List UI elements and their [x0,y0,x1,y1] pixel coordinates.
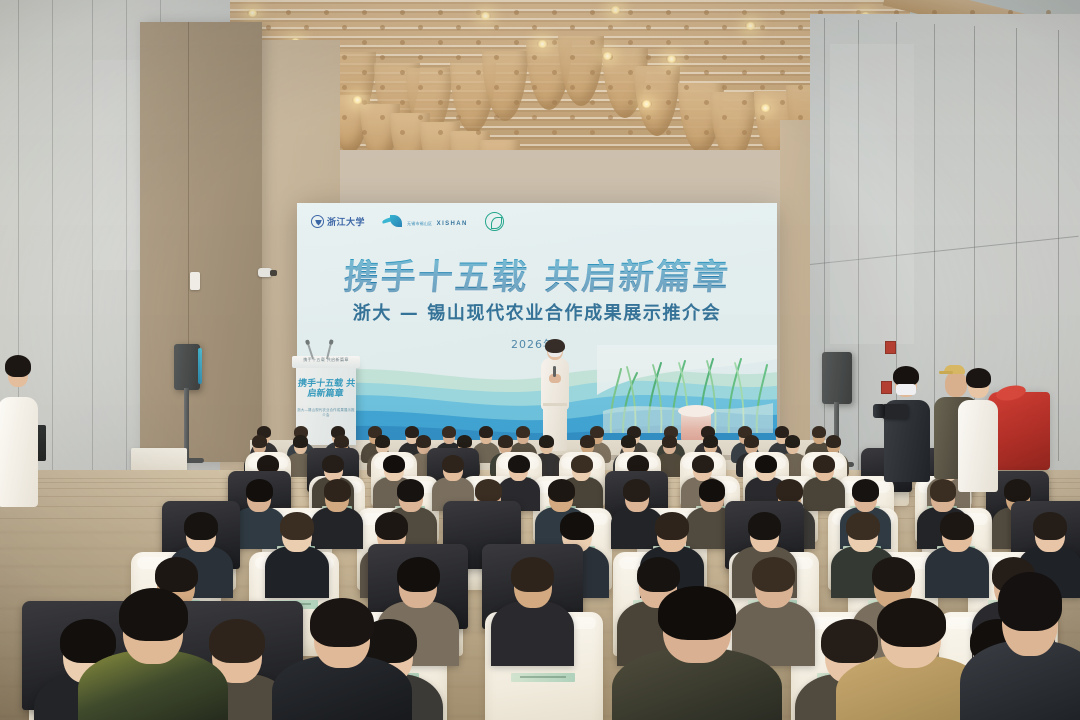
ceiling-wave-drop [480,140,520,150]
person-hair [442,455,464,473]
ceiling-fastener-dot [684,115,689,120]
ceiling-fastener-dot [742,10,747,15]
person-hair [479,426,493,438]
ceiling-fastener-dot [418,85,423,90]
ceiling-fastener-dot [590,100,595,105]
podium-title: 携手十五载 共启新篇章 [295,379,357,400]
ceiling-fastener-dot [532,85,537,90]
ceiling-fastener-dot [476,70,481,75]
ceiling-fastener-dot [514,70,519,75]
ceiling-fastener-dot [722,85,727,90]
woman-in-white-coat [958,368,998,490]
ceiling-fastener-dot [798,25,803,30]
person-hair [322,455,344,473]
person-hair [560,512,593,540]
person-hair [580,435,596,448]
person-hair [1004,479,1031,501]
ceiling-fastener-dot [704,100,709,105]
zju-logo-text: 浙江大学 [327,215,365,228]
ceiling-fastener-dot [628,70,633,75]
security-camera-icon [258,268,272,277]
ceiling-fastener-dot [590,10,595,15]
ceiling-fastener-dot [494,115,499,120]
wall-right-reflection [830,44,914,344]
person-hair [662,435,678,448]
ceiling-fastener-dot [286,10,291,15]
ceiling-fastener-dot [494,55,499,60]
ceiling-fastener-dot [456,55,461,60]
ceiling-fastener-dot [570,85,575,90]
wall-device-left [190,272,200,290]
person-hair [776,479,803,501]
wall-seam [52,0,53,470]
ceiling-downlight [666,55,677,63]
person-hair [930,479,957,501]
person-hair [293,435,309,448]
ceiling-fastener-dot [780,100,785,105]
person-hair [508,455,530,473]
ceiling-fastener-dot [362,10,367,15]
ceiling-downlight [760,104,771,112]
ceiling-fastener-dot [704,130,709,135]
ceiling-fastener-dot [704,40,709,45]
ceiling-fastener-dot [608,115,613,120]
ceiling-fastener-dot [666,40,671,45]
ceiling-fastener-dot [760,25,765,30]
ceiling-fastener-dot [456,115,461,120]
ceiling-fastener-dot [400,10,405,15]
person-hair [184,512,217,540]
person-hair [498,435,514,448]
person-hair [155,557,198,592]
ceiling-fastener-dot [760,55,765,60]
door-column-left[interactable] [140,22,262,462]
stage-led-screen: 浙江大学 无锡市锡山区 XISHAN 携手十五载共启新篇章 浙大 — 锡山现代农… [297,203,777,455]
ceiling-fastener-dot [684,55,689,60]
person-hair [623,479,650,501]
ceiling-fastener-dot [666,130,671,135]
ceiling-fastener-dot [438,10,443,15]
host-hair [545,339,565,353]
screen-subtitle: 浙大 — 锡山现代农业合作成果展示推介会 [297,299,777,325]
person-hair [658,586,736,640]
ceiling-fastener-dot [304,25,309,30]
person-hair [621,435,637,448]
ceiling-downlight [602,52,613,60]
ceiling-wave-drop [710,92,756,150]
person-hair [516,426,530,438]
ceiling-fastener-dot [780,70,785,75]
ceiling-fastener-dot [646,115,651,120]
ceiling-fastener-dot [552,10,557,15]
xishan-logo: 无锡市锡山区 XISHAN [382,213,468,230]
ceiling-downlight [610,6,621,14]
screen-date: 2026年1 [297,336,777,352]
ceiling-fastener-dot [456,85,461,90]
screen-logo-row: 浙江大学 无锡市锡山区 XISHAN [311,212,504,231]
person-hair [893,366,919,386]
ceiling-fastener-dot [400,100,405,105]
xishan-logo-text-cn: 无锡市锡山区 [407,221,432,226]
ceiling-fastener-dot [608,25,613,30]
person-hair [334,435,350,448]
ceiling-fastener-dot [742,70,747,75]
ceiling-downlight [641,100,652,108]
ceiling-fastener-dot [628,130,633,135]
line-array-speaker-right [822,352,852,404]
ceiling-fastener-dot [590,70,595,75]
person-hair [785,435,801,448]
ceiling-fastener-dot [590,40,595,45]
ceiling-fastener-dot [628,10,633,15]
standing-woman-left [0,355,38,505]
photographer-with-camera [884,368,930,480]
person-hair [548,479,575,501]
person-hair [405,426,419,438]
person-hair [375,435,391,448]
ceiling-fastener-dot [400,40,405,45]
ceiling-fastener-dot [552,40,557,45]
ceiling-fastener-dot [704,10,709,15]
ceiling-fastener-dot [798,55,803,60]
ceiling-fastener-dot [400,70,405,75]
ceiling-fastener-dot [552,70,557,75]
ceiling-fastener-dot [722,25,727,30]
foreground-person [612,586,782,720]
ceiling-fastener-dot [570,25,575,30]
screen-headline-part2: 共启新篇章 [543,258,732,298]
ceiling-fastener-dot [742,100,747,105]
ceiling-fastener-dot [742,40,747,45]
person-shoulders [491,601,574,667]
wall-seam [824,18,825,473]
ceiling-fastener-dot [438,40,443,45]
person-hair [703,435,719,448]
ceiling-fastener-dot [380,25,385,30]
ceiling-fastener-dot [342,115,347,120]
person-hair [1033,512,1066,540]
podium-subtitle: 浙大—锡山现代农业合作成果展示推介会 [296,407,356,417]
person-hair [699,479,726,501]
person-hair [846,512,879,540]
wall-seam [1058,30,1059,461]
person-hair [877,598,946,647]
person-hair [397,557,440,592]
line-array-speaker-left [174,344,200,390]
person-hair [324,479,351,501]
ceiling-fastener-dot [476,130,481,135]
ceiling-fastener-dot [532,115,537,120]
foreground-person [78,588,228,720]
ceiling-fastener-dot [380,85,385,90]
ceiling-fastener-dot [552,130,557,135]
person-hair [511,557,554,592]
ceiling-fastener-dot [456,25,461,30]
ceiling-fastener-dot [514,40,519,45]
person-hair [966,368,991,388]
ceiling-downlight [480,12,491,20]
person-coat [0,397,38,507]
person-hair [457,435,473,448]
person-hair [310,598,374,647]
zju-emblem-icon [311,215,324,228]
conference-hall-photo: 浙江大学 无锡市锡山区 XISHAN 携手十五载共启新篇章 浙大 — 锡山现代农… [0,0,1080,720]
ceiling-fastener-dot [552,100,557,105]
ceiling-fastener-dot [494,85,499,90]
ceiling-fastener-dot [514,10,519,15]
ceiling-fastener-dot [684,25,689,30]
person-hair [397,479,424,501]
chair-seat-label [511,673,575,682]
person-hair [813,455,835,473]
ceiling-fastener-dot [742,130,747,135]
ceiling-fastener-dot [514,130,519,135]
ceiling-fastener-dot [780,40,785,45]
person-hair [571,455,593,473]
ceiling-fastener-dot [362,130,367,135]
audience-person [491,556,574,662]
person-hair [5,355,31,377]
ceiling-fastener-dot [438,70,443,75]
person-hair [383,455,405,473]
ceiling-fastener-dot [266,25,271,30]
person-hair [655,512,688,540]
partner-green-logo-icon [485,212,504,231]
ceiling-fastener-dot [324,10,329,15]
ceiling-fastener-dot [760,85,765,90]
ceiling-fastener-dot [400,130,405,135]
dslr-camera-icon [882,404,908,419]
ceiling-fastener-dot [666,70,671,75]
ceiling-fastener-dot [608,85,613,90]
person-hair [748,512,781,540]
person-hair [246,479,273,501]
ceiling-fastener-dot [628,100,633,105]
ceiling-fastener-dot [418,55,423,60]
foreground-person [272,598,412,720]
ceiling-fastener-dot [342,55,347,60]
host-microphone-icon [553,366,556,377]
person-hair [280,512,313,540]
ceiling-fastener-dot [722,55,727,60]
ceiling-fastener-dot [532,55,537,60]
ceiling-fastener-dot [342,85,347,90]
ceiling-fastener-dot [418,25,423,30]
person-hair [744,435,760,448]
ceiling-fastener-dot [590,130,595,135]
ceiling-fastener-dot [570,55,575,60]
person-hair [940,512,973,540]
ceiling-fastener-dot [646,55,651,60]
ceiling-fastener-dot [438,130,443,135]
ceiling-fastener-dot [362,70,367,75]
person-hair [812,426,826,438]
ceiling-fastener-dot [494,25,499,30]
ceiling-fastener-dot [646,25,651,30]
foreground-person [960,572,1080,720]
ceiling-fastener-dot [438,100,443,105]
person-hair [442,426,456,438]
ceiling-fastener-dot [798,85,803,90]
person-hair [375,512,408,540]
person-hair [119,588,188,641]
ceiling-fastener-dot [760,115,765,120]
speaker-led-left [198,348,202,384]
person-hair [826,435,842,448]
ceiling-fastener-dot [780,10,785,15]
ceiling-downlight [247,9,258,17]
ceiling-fastener-dot [646,85,651,90]
ceiling-fastener-dot [666,100,671,105]
ceiling-fastener-dot [342,25,347,30]
ceiling-fastener-dot [684,85,689,90]
zhejiang-university-logo: 浙江大学 [311,215,365,228]
person-hair [475,479,502,501]
ceiling-fastener-dot [722,115,727,120]
person-hair [755,455,777,473]
wall-left-reflection [92,60,144,270]
ceiling-fastener-dot [380,115,385,120]
person-hair [692,455,714,473]
ceiling-fastener-dot [418,115,423,120]
person-hair [852,479,879,501]
person-face-mask [896,384,916,395]
ceiling-fastener-dot [476,40,481,45]
host-belt [543,403,567,406]
ceiling-fastener-dot [476,100,481,105]
audience-person [265,511,329,595]
ceiling-fastener-dot [666,10,671,15]
ceiling-downlight [537,40,548,48]
xishan-logo-text-group: 无锡市锡山区 XISHAN [407,213,468,230]
fire-alarm-box-upper-icon [885,341,896,354]
screen-headline-part1: 携手十五载 [342,258,531,298]
ceiling-downlight [745,22,756,30]
ceiling-fastener-dot [628,40,633,45]
person-shoulders [265,546,329,598]
person-hair [252,435,268,448]
person-hair [416,435,432,448]
ceiling-fastener-dot [362,40,367,45]
ceiling-fastener-dot [704,70,709,75]
person-coat [958,400,998,492]
xishan-logo-text-en: XISHAN [437,221,468,227]
person-hair [539,435,555,448]
ceiling-fastener-dot [532,25,537,30]
ceiling-downlight [352,96,363,104]
xishan-mark-icon [382,214,404,229]
ceiling-fastener-dot [380,55,385,60]
ceiling-fastener-dot [514,100,519,105]
person-hair [998,572,1062,631]
screen-headline: 携手十五载共启新篇章 [297,249,777,300]
ceiling-fastener-dot [570,115,575,120]
person-hair [872,557,915,592]
